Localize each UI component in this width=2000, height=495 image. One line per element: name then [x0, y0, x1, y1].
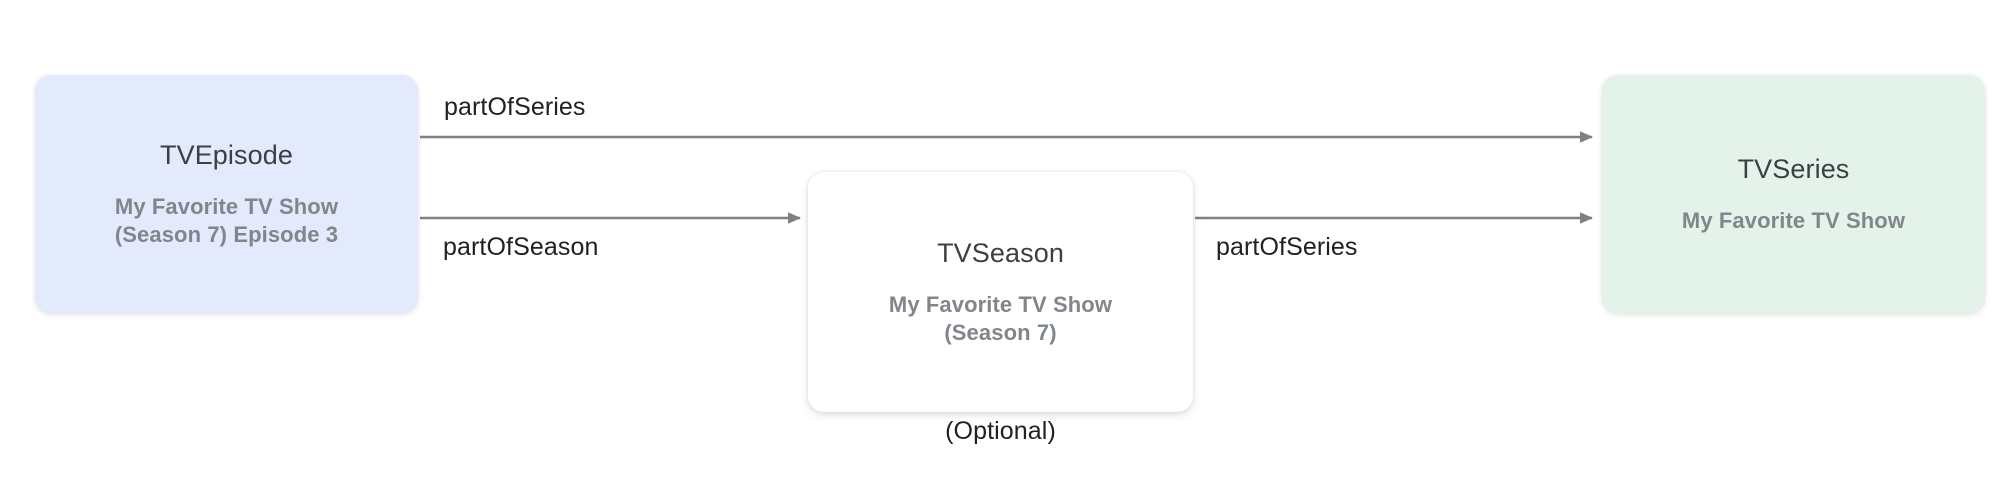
node-title: TVSeason — [937, 237, 1064, 269]
edge-label-part-of-season: partOfSeason — [443, 232, 598, 262]
node-subtitle-line1: My Favorite TV Show — [1682, 207, 1905, 235]
annotation-optional: (Optional) — [808, 417, 1193, 446]
node-title: TVEpisode — [160, 139, 293, 171]
diagram-canvas: TVEpisode My Favorite TV Show (Season 7)… — [0, 0, 2000, 495]
node-subtitle: My Favorite TV Show — [1682, 207, 1905, 235]
edge-label-part-of-series-top: partOfSeries — [444, 92, 586, 122]
node-subtitle-line2: (Season 7) — [889, 319, 1112, 347]
edge-label-part-of-series-middle: partOfSeries — [1216, 232, 1358, 262]
node-subtitle: My Favorite TV Show (Season 7) Episode 3 — [115, 193, 338, 249]
node-subtitle-line1: My Favorite TV Show — [889, 291, 1112, 319]
node-tvseason[interactable]: TVSeason My Favorite TV Show (Season 7) — [808, 172, 1193, 412]
node-tvseries[interactable]: TVSeries My Favorite TV Show — [1602, 75, 1985, 313]
node-tvepisode[interactable]: TVEpisode My Favorite TV Show (Season 7)… — [35, 75, 418, 313]
node-title: TVSeries — [1738, 153, 1850, 185]
node-subtitle: My Favorite TV Show (Season 7) — [889, 291, 1112, 347]
node-subtitle-line2: (Season 7) Episode 3 — [115, 221, 338, 249]
node-subtitle-line1: My Favorite TV Show — [115, 193, 338, 221]
